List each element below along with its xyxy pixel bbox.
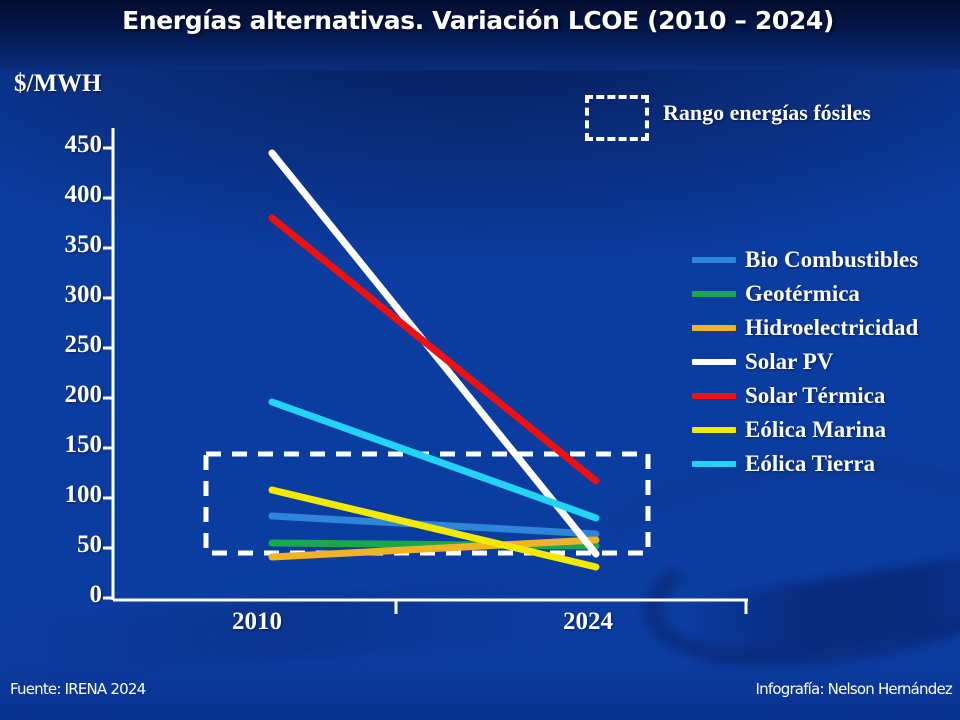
y-axis-tick-label: 350 [2, 231, 102, 259]
legend-item-label: Eólica Tierra [745, 451, 875, 477]
footer-credit: Infografía: Nelson Hernández [756, 680, 952, 698]
legend-item[interactable]: Eólica Tierra [692, 447, 954, 481]
y-axis-tick-label: 400 [2, 181, 102, 209]
legend-color-swatch [692, 359, 736, 365]
y-axis-tick-labels: 050100150200250300350400450 [0, 0, 102, 720]
y-axis-tick-label: 300 [2, 281, 102, 309]
y-axis-tick-label: 0 [2, 581, 102, 609]
legend-item[interactable]: Geotérmica [692, 277, 954, 311]
legend-item-label: Solar Térmica [745, 383, 885, 409]
series-lines-group [272, 153, 596, 567]
legend-color-swatch [692, 291, 736, 297]
legend-color-swatch [692, 325, 736, 331]
legend-item-label: Bio Combustibles [745, 247, 918, 273]
y-axis-tick-label: 150 [2, 431, 102, 459]
y-axis-tick-label: 250 [2, 331, 102, 359]
legend-item[interactable]: Hidroelectricidad [692, 311, 954, 345]
footer-source: Fuente: IRENA 2024 [10, 680, 145, 698]
legend-color-swatch [692, 461, 736, 467]
legend-color-swatch [692, 393, 736, 399]
legend-item-label: Solar PV [745, 349, 833, 375]
legend-item[interactable]: Solar Térmica [692, 379, 954, 413]
legend-item-label: Hidroelectricidad [745, 315, 918, 341]
legend-item[interactable]: Solar PV [692, 345, 954, 379]
legend-item[interactable]: Bio Combustibles [692, 243, 954, 277]
legend-item-label: Geotérmica [745, 281, 860, 307]
y-axis-tick-label: 450 [2, 131, 102, 159]
x-axis-tick-label-2024: 2024 [563, 608, 613, 636]
legend-color-swatch [692, 257, 736, 263]
y-axis-tick-label: 100 [2, 481, 102, 509]
legend-item[interactable]: Eólica Marina [692, 413, 954, 447]
legend-item-label: Eólica Marina [745, 417, 886, 443]
chart-legend: Bio CombustiblesGeotérmicaHidroelectrici… [692, 243, 954, 481]
y-axis-tick-label: 200 [2, 381, 102, 409]
series-line [272, 218, 596, 481]
legend-color-swatch [692, 427, 736, 433]
x-axis-tick-label-2010: 2010 [232, 608, 282, 636]
y-axis-tick-label: 50 [2, 531, 102, 559]
